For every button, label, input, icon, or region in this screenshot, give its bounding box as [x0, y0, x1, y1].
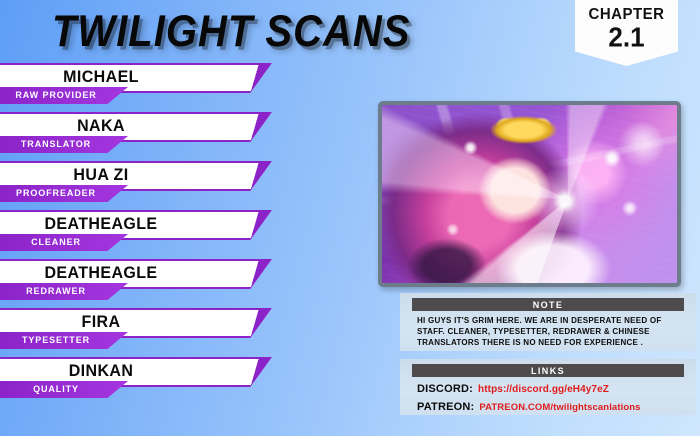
credit-block: HUA ZIPROOFREADER — [0, 161, 300, 210]
credit-role: REDRAWER — [0, 286, 112, 296]
credit-name: HUA ZI — [0, 166, 202, 185]
artwork-panel — [378, 101, 681, 287]
credit-role: PROOFREADER — [0, 188, 112, 198]
title-bar: TWILIGHT SCANS — [0, 0, 560, 62]
credit-block: DEATHEAGLECLEANER — [0, 210, 300, 259]
credit-block: FIRATYPESETTER — [0, 308, 300, 357]
chapter-number: 2.1 — [575, 23, 678, 51]
discord-label: DISCORD: — [417, 383, 473, 395]
credit-name: MICHAEL — [0, 68, 202, 87]
credit-role-banner: TRANSLATOR — [0, 136, 128, 153]
credit-role: RAW PROVIDER — [0, 90, 112, 100]
credit-role: TRANSLATOR — [0, 139, 112, 149]
credit-role-banner: RAW PROVIDER — [0, 87, 128, 104]
credit-role: QUALITY — [0, 384, 112, 394]
discord-link[interactable]: https://discord.gg/eH4y7eZ — [478, 384, 609, 395]
credit-name: DEATHEAGLE — [0, 264, 202, 283]
credit-name: NAKA — [0, 117, 202, 136]
credit-block: DEATHEAGLEREDRAWER — [0, 259, 300, 308]
credit-role-banner: CLEANER — [0, 234, 128, 251]
note-header: NOTE — [412, 298, 684, 311]
discord-row: DISCORD: https://discord.gg/eH4y7eZ — [417, 383, 696, 395]
credit-role-banner: PROOFREADER — [0, 185, 128, 202]
note-panel: NOTE HI GUYS IT'S GRIM HERE. WE ARE IN D… — [400, 293, 696, 351]
chapter-ribbon: CHAPTER 2.1 — [575, 0, 678, 66]
note-header-label: NOTE — [533, 300, 564, 310]
credit-block: DINKANQUALITY — [0, 357, 300, 406]
note-body-text: HI GUYS IT'S GRIM HERE. WE ARE IN DESPER… — [417, 315, 685, 348]
patreon-row: PATREON: PATREON.COM/twilightscanlations — [417, 401, 696, 413]
credit-name: DEATHEAGLE — [0, 215, 202, 234]
credit-name: FIRA — [0, 313, 202, 332]
site-title: TWILIGHT SCANS — [52, 7, 410, 57]
credit-block: NAKATRANSLATOR — [0, 112, 300, 161]
credit-role-banner: TYPESETTER — [0, 332, 128, 349]
credit-role: CLEANER — [0, 237, 112, 247]
links-panel: LINKS DISCORD: https://discord.gg/eH4y7e… — [400, 359, 696, 415]
credit-role-banner: QUALITY — [0, 381, 128, 398]
credit-role: TYPESETTER — [0, 335, 112, 345]
patreon-label: PATREON: — [417, 401, 474, 413]
links-header: LINKS — [412, 364, 684, 377]
artwork-magic-sparkle-layer — [382, 105, 677, 283]
credit-block: MICHAELRAW PROVIDER — [0, 63, 300, 112]
patreon-link[interactable]: PATREON.COM/twilightscanlations — [479, 402, 640, 413]
credits-list: MICHAELRAW PROVIDERNAKATRANSLATORHUA ZIP… — [0, 63, 300, 406]
artwork-image — [382, 105, 677, 283]
links-header-label: LINKS — [531, 366, 565, 376]
credit-name: DINKAN — [0, 362, 202, 381]
credit-role-banner: REDRAWER — [0, 283, 128, 300]
